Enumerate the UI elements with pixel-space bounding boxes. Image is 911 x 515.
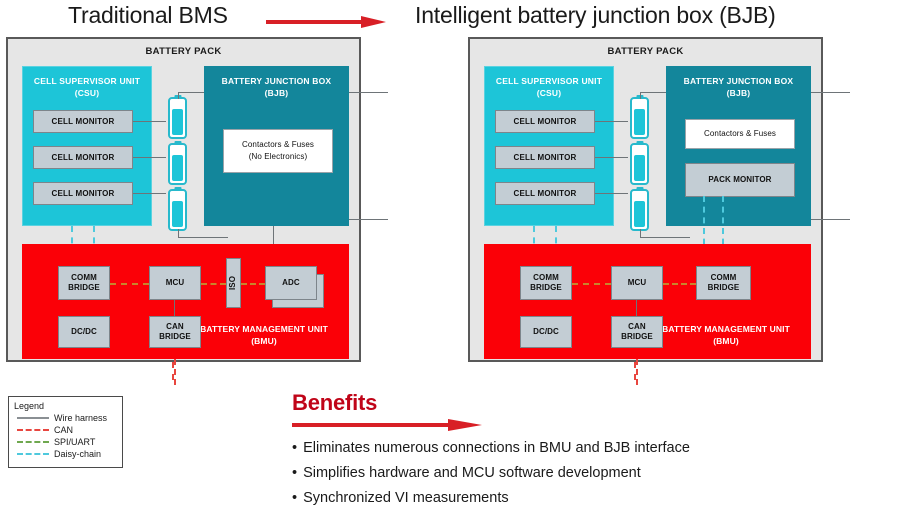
- battery-junction-box: BATTERY JUNCTION BOX (BJB) Contactors & …: [204, 66, 349, 226]
- wire-harness-segment: [174, 300, 175, 316]
- adc-chip: ADC: [265, 266, 317, 300]
- battery-cell-icon: [168, 143, 187, 185]
- legend-item-label: SPI/UART: [54, 437, 95, 447]
- wire-harness-segment: [595, 193, 628, 194]
- bullet-icon: •: [292, 440, 297, 456]
- csu-title: CELL SUPERVISOR UNIT (CSU): [23, 75, 151, 99]
- wire-harness-segment: [640, 237, 690, 238]
- dcdc-chip: DC/DC: [58, 316, 110, 348]
- chip-line2: BRIDGE: [159, 332, 191, 342]
- bjb-title-line1: BATTERY JUNCTION BOX: [205, 75, 348, 87]
- battery-management-unit: BATTERY MANAGEMENT UNIT (BMU) COMM BRIDG…: [22, 244, 349, 359]
- iso-chip: ISO: [226, 258, 241, 308]
- cell-monitor-block: CELL MONITOR: [495, 110, 595, 133]
- bullet-icon: •: [292, 490, 297, 506]
- comm-bridge-chip-left: COMM BRIDGE: [520, 266, 572, 300]
- cell-monitor-block: CELL MONITOR: [495, 146, 595, 169]
- battery-cell-icon: [630, 97, 649, 139]
- dcdc-chip: DC/DC: [520, 316, 572, 348]
- cell-monitor-block: CELL MONITOR: [33, 110, 133, 133]
- chip-line1: MCU: [166, 278, 185, 288]
- legend-item-daisy-chain: Daisy-chain: [14, 448, 117, 460]
- csu-title-line1: CELL SUPERVISOR UNIT: [485, 75, 613, 87]
- battery-junction-box: BATTERY JUNCTION BOX (BJB) Contactors & …: [666, 66, 811, 226]
- pack-monitor-block: PACK MONITOR: [685, 163, 795, 197]
- pack-monitor-label: PACK MONITOR: [708, 174, 771, 186]
- wire-harness-segment: [595, 157, 628, 158]
- battery-cell-icon: [168, 97, 187, 139]
- wire-harness-segment: [640, 229, 641, 237]
- cell-monitor-block: CELL MONITOR: [33, 146, 133, 169]
- bjb-title-line1: BATTERY JUNCTION BOX: [667, 75, 810, 87]
- contactors-fuses-block: Contactors & Fuses: [685, 119, 795, 149]
- wire-harness-segment: [636, 300, 637, 316]
- csu-title-line2: (CSU): [485, 87, 613, 99]
- chip-line1: CAN: [159, 322, 191, 332]
- legend-item-wire-harness: Wire harness: [14, 412, 117, 424]
- csu-title: CELL SUPERVISOR UNIT (CSU): [485, 75, 613, 99]
- spi-uart-line: [572, 283, 611, 285]
- chip-line1: COMM: [708, 273, 740, 283]
- chip-line1: MCU: [628, 278, 647, 288]
- legend-swatch-dashed-cyan-icon: [17, 453, 49, 455]
- chip-line1: COMM: [530, 273, 562, 283]
- benefit-list-item: •Eliminates numerous connections in BMU …: [292, 440, 902, 456]
- legend-item-can: CAN: [14, 424, 117, 436]
- chip-line2: BRIDGE: [708, 283, 740, 293]
- contactors-line1: Contactors & Fuses: [242, 139, 314, 151]
- can-bridge-chip: CAN BRIDGE: [611, 316, 663, 348]
- spi-uart-line: [110, 283, 149, 285]
- battery-cell-chain: [627, 97, 653, 231]
- contactors-line1: Contactors & Fuses: [704, 128, 776, 140]
- cell-supervisor-unit: CELL SUPERVISOR UNIT (CSU) CELL MONITOR …: [22, 66, 152, 226]
- battery-pack-traditional: BATTERY PACK CELL SUPERVISOR UNIT (CSU) …: [6, 37, 361, 362]
- bmu-label: BATTERY MANAGEMENT UNIT (BMU): [651, 323, 801, 347]
- can-line: [636, 359, 638, 385]
- wire-harness-segment: [178, 229, 179, 237]
- can-bridge-chip: CAN BRIDGE: [149, 316, 201, 348]
- battery-cell-icon: [168, 189, 187, 231]
- can-line-external: [172, 362, 174, 380]
- battery-cell-chain: [165, 97, 191, 231]
- chip-line2: BRIDGE: [621, 332, 653, 342]
- pack-title: BATTERY PACK: [470, 46, 821, 57]
- contactors-fuses-block: Contactors & Fuses (No Electronics): [223, 129, 333, 173]
- battery-cell-icon: [630, 189, 649, 231]
- benefits-title: Benefits: [292, 390, 902, 416]
- wire-harness-segment: [595, 121, 628, 122]
- bjb-title: BATTERY JUNCTION BOX (BJB): [205, 75, 348, 99]
- benefit-list-item: •Simplifies hardware and MCU software de…: [292, 465, 902, 481]
- bmu-label-line2: (BMU): [189, 335, 339, 347]
- legend-swatch-dashed-red-icon: [17, 429, 49, 431]
- spi-uart-line: [201, 283, 226, 285]
- battery-pack-intelligent: BATTERY PACK CELL SUPERVISOR UNIT (CSU) …: [468, 37, 823, 362]
- wire-harness-segment: [133, 193, 166, 194]
- bjb-title-line2: (BJB): [205, 87, 348, 99]
- spi-uart-line: [241, 283, 265, 285]
- slide-canvas: Traditional BMS Intelligent battery junc…: [0, 0, 911, 515]
- chip-line2: BRIDGE: [68, 283, 100, 293]
- legend-swatch-solid-icon: [17, 417, 49, 419]
- mcu-chip: MCU: [611, 266, 663, 300]
- comm-bridge-chip-right: COMM BRIDGE: [696, 266, 751, 300]
- benefit-text: Synchronized VI measurements: [303, 490, 509, 506]
- cell-monitor-block: CELL MONITOR: [33, 182, 133, 205]
- can-line: [174, 359, 176, 385]
- battery-cell-icon: [630, 143, 649, 185]
- chip-line2: BRIDGE: [530, 283, 562, 293]
- bullet-icon: •: [292, 465, 297, 481]
- right-arrow-icon: [266, 16, 386, 28]
- legend-swatch-dashed-green-icon: [17, 441, 49, 443]
- bjb-title-line2: (BJB): [667, 87, 810, 99]
- wire-harness-segment: [640, 92, 641, 99]
- csu-title-line1: CELL SUPERVISOR UNIT: [23, 75, 151, 87]
- chip-line1: DC/DC: [533, 327, 559, 337]
- chip-line1: CAN: [621, 322, 653, 332]
- wire-harness-segment: [178, 92, 179, 99]
- chip-line1: COMM: [68, 273, 100, 283]
- bjb-title: BATTERY JUNCTION BOX (BJB): [667, 75, 810, 99]
- benefit-list-item: •Synchronized VI measurements: [292, 490, 902, 506]
- legend: Legend Wire harness CAN SPI/UART Daisy-c…: [8, 396, 123, 468]
- page-title-right: Intelligent battery junction box (BJB): [415, 2, 776, 29]
- chip-line1: DC/DC: [71, 327, 97, 337]
- bmu-label: BATTERY MANAGEMENT UNIT (BMU): [189, 323, 339, 347]
- cell-supervisor-unit: CELL SUPERVISOR UNIT (CSU) CELL MONITOR …: [484, 66, 614, 226]
- benefit-text: Eliminates numerous connections in BMU a…: [303, 440, 690, 456]
- pack-terminal-wire: [349, 92, 388, 93]
- chip-line1: ISO: [229, 276, 239, 290]
- pack-terminal-wire: [811, 92, 850, 93]
- spi-uart-line: [663, 283, 696, 285]
- cell-monitor-block: CELL MONITOR: [495, 182, 595, 205]
- pack-terminal-wire: [349, 219, 388, 220]
- mcu-chip: MCU: [149, 266, 201, 300]
- wire-harness-segment: [178, 237, 228, 238]
- comm-bridge-chip: COMM BRIDGE: [58, 266, 110, 300]
- wire-harness-segment: [133, 157, 166, 158]
- legend-item-label: Wire harness: [54, 413, 107, 423]
- legend-item-label: CAN: [54, 425, 73, 435]
- benefits-section: Benefits •Eliminates numerous connection…: [292, 390, 902, 506]
- right-arrow-icon: [292, 419, 482, 431]
- wire-harness-segment: [133, 121, 166, 122]
- can-line-external: [634, 362, 636, 380]
- legend-item-spi-uart: SPI/UART: [14, 436, 117, 448]
- benefit-text: Simplifies hardware and MCU software dev…: [303, 465, 641, 481]
- pack-title: BATTERY PACK: [8, 46, 359, 57]
- bmu-label-line2: (BMU): [651, 335, 801, 347]
- bmu-label-line1: BATTERY MANAGEMENT UNIT: [651, 323, 801, 335]
- chip-line1: ADC: [282, 278, 300, 288]
- legend-item-label: Daisy-chain: [54, 449, 101, 459]
- battery-management-unit: BATTERY MANAGEMENT UNIT (BMU) COMM BRIDG…: [484, 244, 811, 359]
- pack-terminal-wire: [811, 219, 850, 220]
- legend-title: Legend: [14, 401, 117, 411]
- contactors-line2: (No Electronics): [242, 151, 314, 163]
- csu-title-line2: (CSU): [23, 87, 151, 99]
- page-title-left: Traditional BMS: [68, 2, 228, 29]
- bmu-label-line1: BATTERY MANAGEMENT UNIT: [189, 323, 339, 335]
